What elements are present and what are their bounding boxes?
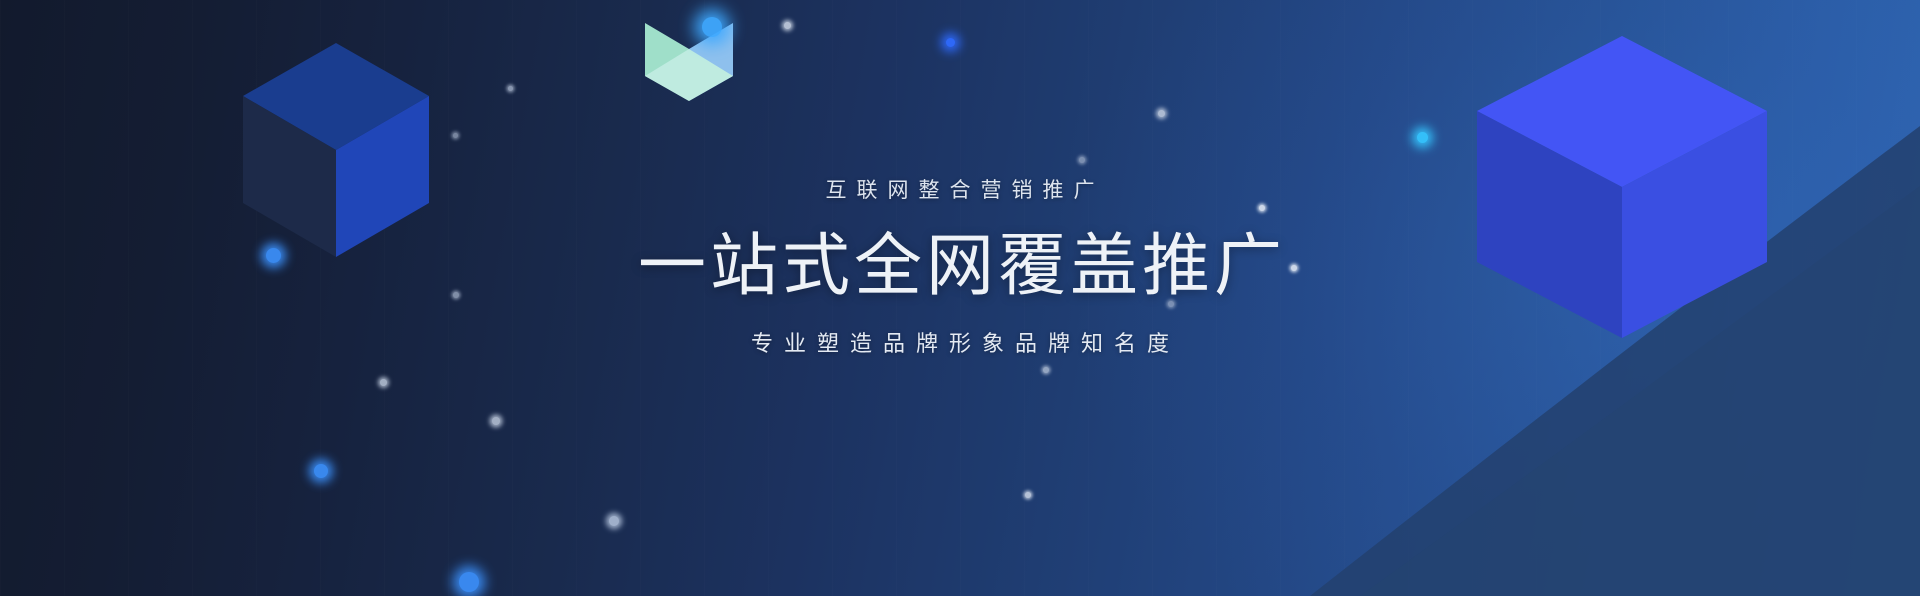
hero-banner: 互联网整合营销推广 一站式全网覆盖推广 专业塑造品牌形象品牌知名度: [0, 0, 1920, 596]
banner-subtitle: 专业塑造品牌形象品牌知名度: [0, 328, 1920, 360]
banner-headline: 一站式全网覆盖推广: [0, 218, 1920, 314]
banner-tagline: 互联网整合营销推广: [0, 176, 1920, 206]
hero-text-block: 互联网整合营销推广 一站式全网覆盖推广 专业塑造品牌形象品牌知名度: [0, 176, 1920, 360]
